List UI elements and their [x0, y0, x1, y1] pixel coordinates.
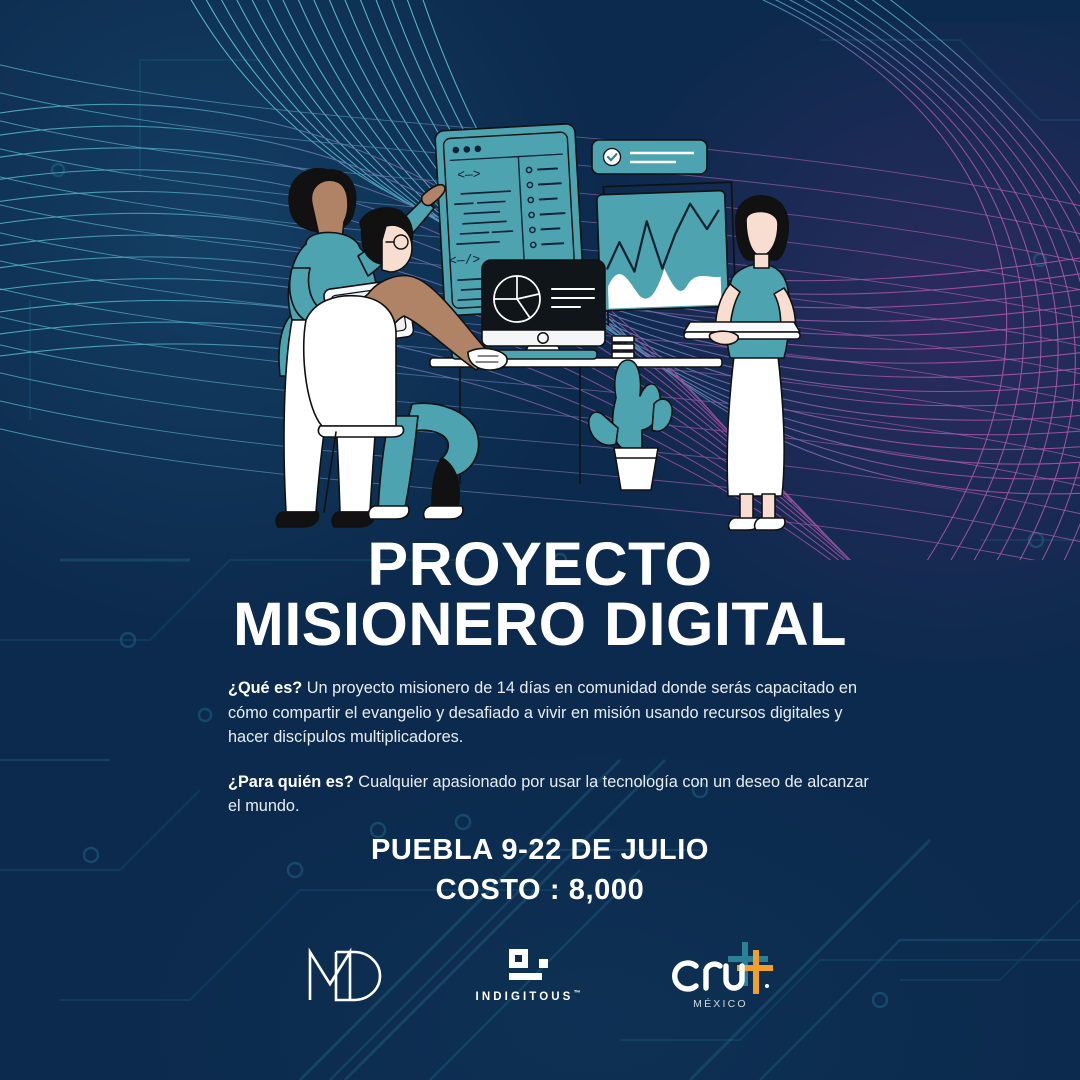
svg-text:<—/>: <—/> — [449, 252, 481, 269]
desk — [430, 358, 722, 483]
logo-cru-mexico: MÉXICO — [666, 940, 774, 1010]
cru-sub-label: MÉXICO — [693, 998, 748, 1010]
cru-logo-icon — [666, 940, 774, 1002]
description-block: ¿Qué es? Un proyecto misionero de 14 día… — [228, 676, 876, 839]
paragraph-what-is: ¿Qué es? Un proyecto misionero de 14 día… — [228, 676, 876, 750]
md-monogram-icon — [306, 946, 390, 1004]
notification-card — [592, 140, 707, 174]
indigitous-label: INDIGITOUS — [476, 991, 574, 1003]
label-what-is: ¿Qué es? — [228, 679, 302, 697]
event-place-date: PUEBLA 9-22 DE JULIO — [0, 832, 1080, 868]
logo-indigitous: INDIGITOUS™ — [476, 947, 581, 1003]
indigitous-trademark: ™ — [573, 990, 580, 997]
poster-canvas: <—> <—/> — [0, 0, 1080, 1080]
laptop — [684, 322, 800, 339]
cactus-plant — [589, 360, 672, 490]
title-line-2: MISIONERO DIGITAL — [233, 590, 847, 658]
indigitous-mark-icon — [506, 947, 550, 983]
page-title: PROYECTO MISIONERO DIGITAL — [0, 534, 1080, 654]
paragraph-for-whom: ¿Para quién es? Cualquier apasionado por… — [228, 770, 876, 819]
svg-text:<—>: <—> — [457, 167, 481, 183]
title-line-1: PROYECTO — [367, 530, 712, 598]
text-what-is: Un proyecto misionero de 14 días en comu… — [228, 679, 857, 746]
event-details: PUEBLA 9-22 DE JULIO COSTO : 8,000 — [0, 832, 1080, 908]
headline-block: PROYECTO MISIONERO DIGITAL — [0, 534, 1080, 654]
event-cost: COSTO : 8,000 — [0, 872, 1080, 908]
hero-illustration: <—> <—/> — [262, 108, 822, 546]
indigitous-wordmark: INDIGITOUS™ — [476, 990, 581, 1003]
logo-row: INDIGITOUS™ MÉXICO — [0, 925, 1080, 1025]
logo-md — [306, 946, 390, 1004]
analytics-board — [596, 182, 736, 325]
label-for-whom: ¿Para quién es? — [228, 773, 354, 791]
